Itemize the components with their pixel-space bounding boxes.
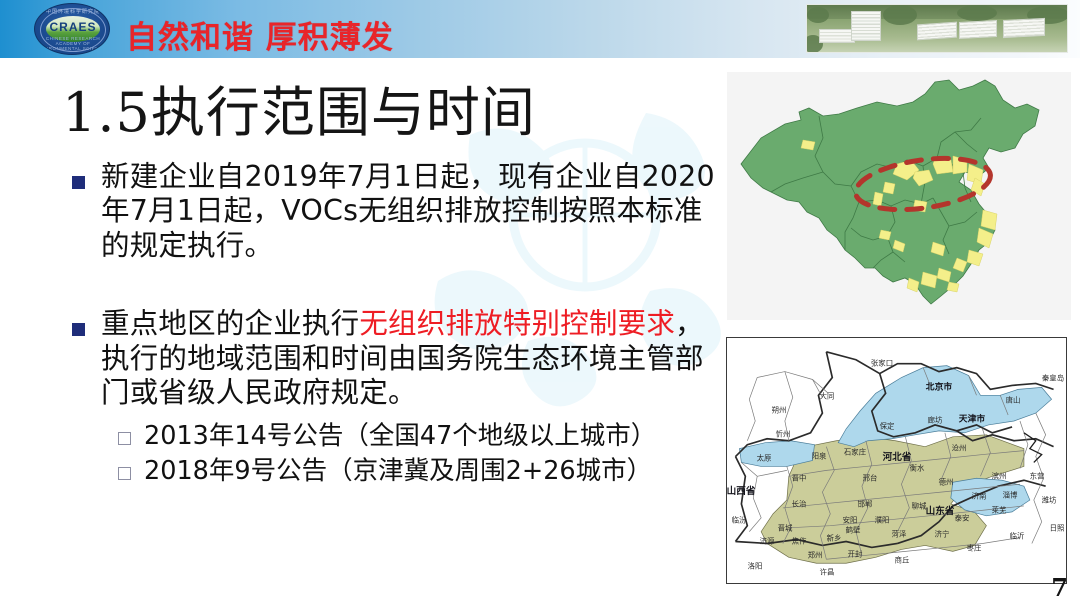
map-city-label: 临汾 (732, 515, 747, 526)
map-city-label: 潍坊 (1042, 495, 1057, 506)
map-municipality-label: 天津市 (959, 412, 985, 425)
map-city-label: 朔州 (772, 405, 787, 416)
map-province-label: 山东省 (926, 503, 955, 517)
map-city-label: 焦作 (792, 536, 807, 547)
logo-acronym: CRAES (35, 20, 110, 34)
region-map-image: 张家口大同朔州忻州太原阳泉石家庄保定廊坊唐山秦皇岛沧州衡水晋中邢台德州滨州东营长… (726, 337, 1067, 584)
map-city-label: 日照 (1050, 523, 1065, 534)
bullet-text: 重点地区的企业执行无组织排放特别控制要求，执行的地域范围和时间由国务院生态环境主… (101, 307, 722, 410)
map-city-label: 济南 (972, 491, 987, 502)
sub-bullet-text: 2018年9号公告（京津冀及周围2+26城市） (144, 455, 652, 488)
map-city-label: 郑州 (808, 550, 823, 561)
map-city-label: 大同 (820, 391, 835, 402)
map-city-label: 石家庄 (844, 447, 866, 458)
map-city-label: 枣庄 (967, 543, 982, 554)
map-city-label: 临沂 (1010, 531, 1025, 542)
craes-logo: 中国环境科学研究院 CRAES CHINESE RESEARCH ACADEMY… (34, 3, 110, 55)
map-municipality-label: 北京市 (926, 380, 952, 393)
photo-tree (807, 7, 829, 23)
photo-building (819, 29, 855, 43)
bullet1-segment-1: 新建企业自2019年7月1日起，现有企业自2020年7月1日起，VOCs无组织排… (101, 160, 715, 262)
map-city-label: 晋城 (778, 523, 793, 534)
sub-bullet-list: 2013年14号公告（全国47个地级以上城市） 2018年9号公告（京津冀及周围… (118, 420, 722, 487)
map-province-label: 河北省 (883, 449, 912, 463)
map-city-label: 鹤壁 (846, 525, 861, 536)
map-city-label: 忻州 (776, 429, 791, 440)
map-city-label: 许昌 (820, 567, 835, 578)
china-map-image (727, 72, 1071, 320)
campus-aerial-photo (806, 4, 1068, 53)
map-city-label: 新乡 (827, 533, 842, 544)
map-city-label: 张家口 (871, 358, 893, 369)
map-city-label: 泰安 (955, 513, 970, 524)
photo-building-tall (851, 11, 881, 41)
filled-square-bullet-icon (72, 176, 85, 189)
bullet-item: 重点地区的企业执行无组织排放特别控制要求，执行的地域范围和时间由国务院生态环境主… (72, 307, 722, 410)
hollow-square-bullet-icon (118, 467, 131, 480)
photo-building (1003, 18, 1045, 38)
filled-square-bullet-icon (72, 323, 85, 336)
photo-tree (957, 5, 997, 21)
sub-bullet-item: 2013年14号公告（全国47个地级以上城市） (118, 420, 722, 453)
map-city-label: 聊城 (912, 501, 927, 512)
map-city-label: 商丘 (895, 555, 910, 566)
map-city-label: 菏泽 (892, 529, 907, 540)
sub-bullet-item: 2018年9号公告（京津冀及周围2+26城市） (118, 455, 722, 488)
header-slogan: 自然和谐 厚积薄发 (126, 12, 394, 57)
map-city-label: 洛阳 (748, 561, 763, 572)
map-city-label: 保定 (880, 421, 895, 432)
photo-building (917, 22, 957, 41)
map-city-label: 邯郸 (858, 499, 873, 510)
map-city-label: 淄博 (1003, 490, 1018, 501)
hollow-square-bullet-icon (118, 432, 131, 445)
map-city-label: 太原 (757, 453, 772, 464)
slide: 中国环境科学研究院 CRAES CHINESE RESEARCH ACADEMY… (0, 0, 1080, 607)
bullet2-highlight: 无组织排放特别控制要求 (359, 307, 675, 340)
photo-tree (883, 5, 917, 25)
map-city-label: 晋中 (792, 473, 807, 484)
map-city-label: 阳泉 (812, 451, 827, 462)
map-city-label: 莱芜 (992, 505, 1007, 516)
map-city-label: 济宁 (935, 529, 950, 540)
map-city-label: 德州 (939, 477, 954, 488)
sub-bullet-text: 2013年14号公告（全国47个地级以上城市） (144, 420, 656, 453)
map-city-label: 滨州 (992, 471, 1007, 482)
bullet-text: 新建企业自2019年7月1日起，现有企业自2020年7月1日起，VOCs无组织排… (101, 160, 722, 263)
china-map-svg (727, 72, 1071, 320)
logo-outer-ring: 中国环境科学研究院 CRAES CHINESE RESEARCH ACADEMY… (34, 3, 110, 55)
slide-body: 新建企业自2019年7月1日起，现有企业自2020年7月1日起，VOCs无组织排… (72, 160, 722, 487)
map-city-label: 衡水 (910, 463, 925, 474)
bullet2-segment-1: 重点地区的企业执行 (101, 307, 359, 340)
page-number: 7 (1051, 573, 1068, 602)
map-city-label: 邢台 (863, 473, 878, 484)
map-city-label: 东营 (1030, 471, 1045, 482)
map-province-label: 山西省 (727, 483, 756, 497)
map-city-label: 长治 (792, 499, 807, 510)
map-city-label: 唐山 (1006, 395, 1021, 406)
page-title: 1.5执行范围与时间 (62, 68, 536, 147)
photo-building (959, 20, 997, 39)
map-city-label: 秦皇岛 (1042, 373, 1064, 384)
logo-bottom-arc-text: CHINESE RESEARCH ACADEMY OF ENVIRONMENTA… (35, 36, 110, 51)
map-city-label: 濮阳 (875, 515, 890, 526)
map-city-label: 廊坊 (928, 415, 943, 426)
map-city-label: 开封 (848, 549, 863, 560)
map-city-label: 沧州 (952, 443, 967, 454)
slide-header: 中国环境科学研究院 CRAES CHINESE RESEARCH ACADEMY… (0, 0, 1080, 58)
bullet-item: 新建企业自2019年7月1日起，现有企业自2020年7月1日起，VOCs无组织排… (72, 160, 722, 263)
map-city-label: 济源 (760, 536, 775, 547)
